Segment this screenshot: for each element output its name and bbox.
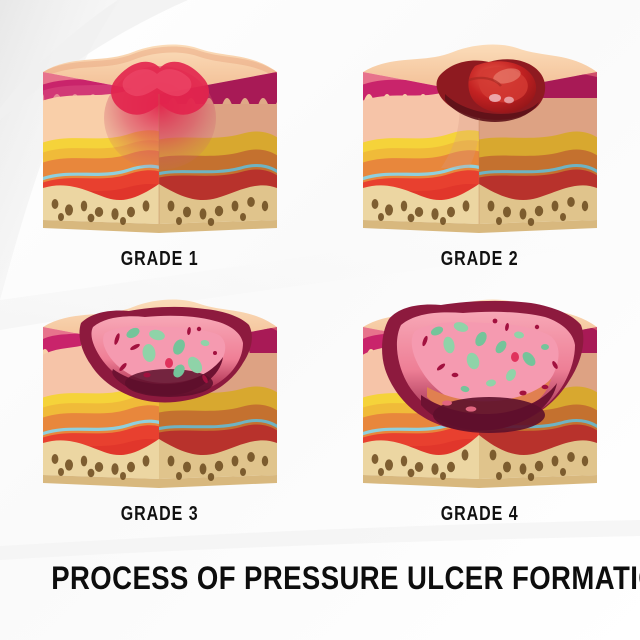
infographic-title: PROCESS OF PRESSURE ULCER FORMATION (0, 560, 640, 597)
caption-grade-1: GRADE 1 (121, 248, 199, 271)
caption-grade-2: GRADE 2 (441, 248, 519, 271)
caption-grade-3: GRADE 3 (121, 503, 199, 526)
bone-layer-g1 (43, 184, 277, 233)
erythema-patch-g1 (104, 62, 216, 170)
figure-cell-grade-3: GRADE 3 (0, 271, 320, 540)
illustration-grade-1 (29, 28, 291, 243)
caption-grade-4: GRADE 4 (441, 503, 519, 526)
figure-cell-grade-1: GRADE 1 (0, 0, 320, 271)
grade-grid: GRADE 1 (0, 0, 640, 540)
figure-cell-grade-2: GRADE 2 (320, 0, 640, 271)
illustration-grade-2 (349, 28, 611, 243)
figure-cell-grade-4: GRADE 4 (320, 271, 640, 540)
infographic-title-text: PROCESS OF PRESSURE ULCER FORMATION (51, 560, 640, 597)
illustration-grade-3 (29, 283, 291, 498)
illustration-grade-4 (349, 283, 611, 498)
bone-layer-g3 (43, 439, 277, 488)
bone-layer-g2 (363, 184, 597, 233)
